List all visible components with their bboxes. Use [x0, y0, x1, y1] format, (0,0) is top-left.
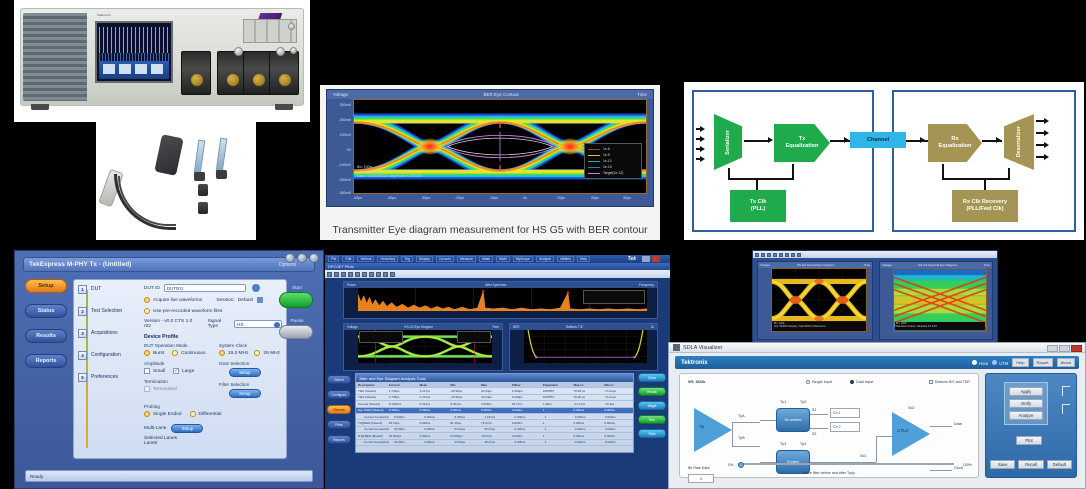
block-deserializer-label: Deserializer: [1016, 126, 1023, 157]
probe-accessory-2: [198, 202, 208, 214]
column-header: Min-cc: [602, 383, 633, 387]
selection-group: Gear Selection Setup Filter Selection Se…: [219, 361, 282, 398]
multilane-row: Multi-Lane Setup: [144, 424, 282, 433]
clock-output-label: Clock: [954, 466, 963, 470]
eye-y-tick: -200mV: [338, 178, 351, 182]
spectrum-header-left: Power: [347, 283, 356, 287]
plot-button[interactable]: Plot: [1016, 436, 1042, 445]
menu-mask[interactable]: Mask: [479, 256, 493, 262]
system-clock-19[interactable]: 19.2 MHz: [219, 350, 249, 356]
step-label: Preferences: [91, 374, 118, 380]
menu-measure[interactable]: Measure: [457, 256, 476, 262]
sdla-title-bar: SDLA Visualizer: [669, 343, 1085, 353]
port-tp1: Tp1: [780, 400, 786, 404]
cursor-icon[interactable]: [779, 253, 783, 257]
use-prerecorded-row[interactable]: Use pre-recorded waveform files: [144, 308, 282, 314]
maximize-button[interactable]: [297, 253, 307, 263]
app-icon: [673, 344, 680, 351]
probe-connector-2: [216, 170, 227, 179]
slider-caption: Move filter before and after Tpdy: [680, 471, 978, 475]
probing-differential[interactable]: Differential: [190, 411, 222, 417]
slider-min-label: 0%: [728, 463, 733, 467]
scope-eye-header-right: Time: [492, 325, 499, 329]
amplitude-label: Amplitude: [144, 361, 213, 366]
normal-eye-header-left: Voltage: [760, 263, 770, 267]
eye-x-tick: -50ps: [353, 196, 362, 200]
start-button[interactable]: [279, 292, 313, 308]
multilane-setup-button[interactable]: Setup: [171, 424, 203, 433]
oscilloscope-photo: Tektronix: [14, 0, 310, 122]
probe-amplifier-head: [154, 134, 183, 176]
layout-icon[interactable]: [390, 272, 395, 277]
termination-label: Termination: [144, 379, 213, 384]
scope-side-buttons: Select Configure Results Plots Reports: [327, 375, 353, 450]
bracket-icon-bottom: [1062, 404, 1070, 414]
tekexpress-title-bar: TekExpress M-PHY Tx - (Untitled) Options: [23, 257, 315, 272]
tekexpress-sidebar: Setup Status Results Reports: [25, 279, 71, 379]
right-button-clear[interactable]: Clear: [638, 373, 666, 382]
legend-label: 1e-15: [603, 165, 612, 169]
step-test-selection[interactable]: 2 Test Selection: [78, 306, 140, 316]
eye-x-tick: 20ps: [591, 196, 599, 200]
help-button[interactable]: Help: [1012, 358, 1028, 367]
scope-foot-left: [31, 104, 49, 110]
print-icon[interactable]: [761, 253, 765, 257]
dut-form: DUT ID DUT001 Acquire live waveforms Ses…: [144, 284, 282, 454]
data-output-label: Data: [954, 422, 962, 426]
eye-stats: Bin: 100fs Offset: 0.0002246 Gain 0.0001…: [357, 165, 422, 179]
eye-y-tick: 100mV: [340, 133, 351, 137]
tp-triangle-label: Tp: [699, 424, 704, 429]
bathtub-header-center: Bathtub-TIE: [566, 325, 583, 329]
probe-accessory-1: [198, 184, 208, 196]
deskew-checkbox[interactable]: Deskew B/C and TDR: [929, 380, 970, 384]
eye-legend: 1e-6 1e-9 1e-12 1e-15 Target(1e-12): [584, 143, 642, 179]
eye-x-tick: -40ps: [387, 196, 396, 200]
eye-diagram-plot: Voltage BER Eye Contour Time 300mV 200mV…: [326, 89, 654, 207]
dut-mode-continuous[interactable]: Continuous: [172, 350, 205, 356]
selected-lanes-value: Lane0: [144, 441, 282, 446]
spectral-eye-stats: Bin: 100fs Saturated Contour, Saturated …: [895, 322, 985, 330]
legend-label: 1e-9: [603, 153, 610, 157]
sdla-window-controls: [1046, 345, 1082, 352]
eye-x-axis: -50ps -40ps -30ps -20ps -10ps 0s 10ps 20…: [353, 194, 647, 206]
scope-channel-4: [269, 51, 299, 95]
eye-y-tick: -100mV: [338, 163, 351, 167]
filter-selection-label: Filter Selection: [219, 382, 282, 387]
analysis-results-table: Jitter and Eye Diagram Analysis Tools De…: [355, 373, 634, 453]
acquire-live-label: Acquire live waveforms: [153, 298, 202, 303]
pan-icon[interactable]: [362, 272, 367, 277]
zoom-out-icon[interactable]: [773, 253, 777, 257]
filter-slider-handle[interactable]: [738, 462, 744, 468]
eye-y-tick: 0V: [347, 148, 351, 152]
menu-trig[interactable]: Trig: [401, 256, 413, 262]
sdla-title: SDLA Visualizer: [683, 345, 722, 351]
step-label: Acquisitions: [91, 330, 118, 336]
spectral-eye-canvas: Bin: 100fs Saturated Contour, Saturated …: [893, 268, 987, 332]
filter-setup-button[interactable]: Setup: [229, 389, 261, 398]
analysis-table-grid: Description Current Mean Min Max StDev P…: [356, 382, 633, 446]
tp-input-triangle: Tp: [694, 408, 732, 452]
port-sd1: Sd1: [860, 454, 866, 458]
dut-mode-label: DUT Operation Mode: [144, 343, 213, 348]
sdla-brand-bar: Tektronix Hour UTM Help Report About: [675, 356, 1079, 369]
normal-eye-canvas: Bin: 100fs Acq: 500000 Samples, Total 80…: [771, 268, 867, 332]
de-embed-block[interactable]: De-embed: [776, 408, 810, 432]
eye-header-left: Voltage: [333, 92, 348, 97]
eye-measure-box-right: [457, 331, 491, 343]
table-row[interactable]: Current Acquisition 33.99ps 0.000ns 33.9…: [356, 440, 633, 446]
port-s1: S1: [812, 408, 816, 412]
session-value: Default: [238, 298, 253, 303]
eye-x-tick: -10ps: [489, 196, 498, 200]
amplitude-small[interactable]: Small: [144, 368, 165, 374]
step-number: 5: [78, 373, 87, 382]
port-tp3: Tp3: [780, 442, 786, 446]
verify-button[interactable]: Verify: [1009, 399, 1043, 408]
right-button-run[interactable]: Run: [638, 415, 666, 424]
run-controls: Start Pause: [279, 285, 315, 339]
pause-button[interactable]: [279, 325, 313, 339]
scope-minimize-button[interactable]: [642, 256, 650, 262]
report-button[interactable]: Report: [1033, 358, 1053, 367]
eye-x-tick: 10ps: [557, 196, 565, 200]
default-button[interactable]: Default: [1047, 460, 1072, 469]
pause-caption: Pause: [279, 318, 315, 323]
port-tp4: Tp4: [800, 442, 806, 446]
bottom-button-row: Save Recall Default: [990, 460, 1072, 469]
eye-y-tick: -300mV: [338, 191, 351, 195]
eye-x-tick: -30ps: [421, 196, 430, 200]
status-bar: Ready: [25, 470, 313, 482]
bit-rate-field[interactable]: 4: [688, 474, 714, 483]
menu-file[interactable]: File: [328, 256, 339, 262]
jitter-spectrum-plot: Power Jitter Spectrum Frequency: [343, 281, 658, 319]
amplitude-group: Amplitude Small ✓Large Termination Termi…: [144, 361, 213, 398]
ctle-triangle: CTLE: [892, 412, 930, 456]
spectrum-header-right: Frequency: [639, 283, 654, 287]
step-label: Configuration: [91, 352, 121, 358]
sidebar-item-setup[interactable]: Setup: [25, 279, 67, 293]
zoom-in-icon[interactable]: [767, 253, 771, 257]
use-prerecorded-label: Use pre-recorded waveform files: [153, 309, 222, 314]
step-number: 3: [78, 329, 87, 338]
eye-y-tick: 300mV: [340, 103, 351, 107]
maximize-button[interactable]: [1059, 345, 1070, 352]
eye-y-axis: 300mV 200mV 100mV 0V -100mV -200mV -300m…: [327, 99, 353, 194]
bathtub-canvas: [524, 330, 647, 363]
probing-single-ended[interactable]: Single Ended: [144, 411, 182, 417]
menu-myscope[interactable]: MyScope: [513, 256, 533, 262]
dpojet-scope-window[interactable]: File Edit Vertical Horiz/Acq Trig Displa…: [325, 255, 670, 489]
scope-eye-canvas: [358, 330, 492, 363]
gear-setup-button[interactable]: Setup: [229, 368, 261, 377]
sdla-visualizer-window[interactable]: SDLA Visualizer Tektronix Hour UTM Help …: [668, 342, 1086, 489]
scope-display: [95, 21, 173, 83]
column-header: Population: [541, 383, 572, 387]
dut-mode-group: DUT Operation Mode Burst Continuous: [144, 343, 213, 356]
right-button-single[interactable]: Single: [638, 401, 666, 410]
scope-right-buttons: Clear Recalc Single Run Plots: [638, 373, 668, 443]
system-clock-label: System Clock: [219, 343, 282, 348]
session-label: Session:: [216, 298, 234, 303]
probe-connector-1: [194, 172, 205, 181]
channel-1-field[interactable]: Ch 1: [830, 408, 860, 418]
tekexpress-title: TekExpress M-PHY Tx - (Untitled): [29, 261, 131, 268]
use-prerecorded-radio[interactable]: [144, 308, 150, 314]
probing-label: Probing: [144, 404, 282, 409]
side-button-results[interactable]: Results: [327, 405, 351, 414]
eye-x-tick: -20ps: [455, 196, 464, 200]
layout-icon[interactable]: [797, 253, 801, 257]
block-channel: Channel: [850, 132, 906, 148]
dut-mode-burst[interactable]: Burst: [144, 350, 164, 356]
folder-icon[interactable]: [257, 297, 263, 303]
spectrum-header-center: Jitter Spectrum: [485, 283, 506, 287]
scope-vent-grille: [23, 13, 87, 101]
step-number: 1: [78, 285, 87, 294]
zoom-out-icon[interactable]: [348, 272, 353, 277]
sdla-signal-path-canvas: SR: 1920b Single Input Dual Input Deskew…: [679, 373, 979, 478]
analysis-table-title-text: Jitter and Eye Diagram Analysis Tools: [359, 376, 426, 381]
minimize-button[interactable]: [1047, 345, 1058, 352]
bathtub-plot: BER Bathtub-TIE UI: [509, 323, 658, 371]
side-button-select[interactable]: Select: [327, 375, 351, 384]
minimize-button[interactable]: [285, 253, 295, 263]
device-profile-heading: Device Profile: [144, 334, 282, 340]
scope-toolbar: [325, 270, 670, 278]
step-acquisitions[interactable]: 3 Acquisitions: [78, 328, 140, 338]
menu-utilities[interactable]: Utilities: [557, 256, 574, 262]
dual-eye-window[interactable]: Voltage HS-G3 Normal Eye Diagram Time: [752, 250, 998, 347]
menu-analyze[interactable]: Analyze: [536, 256, 554, 262]
acquire-live-radio[interactable]: [144, 297, 150, 303]
step-label: Test Selection: [91, 308, 122, 314]
sdla-brand-label: Tektronix: [681, 360, 708, 366]
sidebar-item-status[interactable]: Status: [25, 304, 67, 318]
eye-diagram-figure: Voltage BER Eye Contour Time 300mV 200mV…: [320, 85, 660, 240]
refresh-icon[interactable]: [252, 284, 260, 292]
save-icon[interactable]: [327, 272, 332, 277]
column-header: Max-cc: [571, 383, 602, 387]
recall-button[interactable]: Recall: [1018, 460, 1043, 469]
termination-checkbox[interactable]: Terminated: [144, 386, 213, 392]
print-icon[interactable]: [334, 272, 339, 277]
signal-type-value: HS: [237, 322, 243, 327]
version-row: Version - v0.0 CTS 1.0 r02 Signal Type H…: [144, 319, 282, 329]
port-sd2: Sd2: [908, 406, 914, 410]
scope-brand-label: Tektronix: [97, 13, 111, 17]
column-header: Description: [356, 383, 387, 387]
block-tx-equalization-label: Tx Equalization: [786, 136, 819, 150]
system-clock-26[interactable]: 26 MHz: [254, 350, 280, 356]
brand-radio-hour[interactable]: Hour: [972, 360, 988, 366]
measure-icon[interactable]: [376, 272, 381, 277]
block-channel-label: Channel: [867, 137, 889, 144]
bit-rate-field-label: Bit Rate Data: [688, 466, 709, 470]
scope-knob-c: [290, 47, 297, 54]
amplitude-large[interactable]: ✓Large: [173, 368, 194, 374]
bathtub-svg: [524, 330, 647, 363]
bracket-icon-top: [1062, 386, 1070, 396]
port-s2: S2: [812, 432, 816, 436]
tekexpress-window[interactable]: TekExpress M-PHY Tx - (Untitled) Options…: [14, 250, 324, 489]
zoom-in-icon[interactable]: [341, 272, 346, 277]
close-button[interactable]: [309, 253, 319, 263]
signal-type-select[interactable]: HS: [234, 320, 282, 328]
step-dut[interactable]: 1 DUT: [78, 284, 140, 294]
legend-entry: Target(1e-12): [588, 170, 638, 176]
right-button-plots[interactable]: Plots: [638, 429, 666, 438]
spectral-eye-header-center: HS-G3 Spectral Eye Diagram: [918, 263, 957, 267]
right-button-recalc[interactable]: Recalc: [638, 387, 666, 396]
normal-eye-stats: Bin: 100fs Acq: 500000 Samples, Total 80…: [773, 322, 865, 330]
analyze-button[interactable]: Analyze: [1009, 411, 1043, 420]
sdla-brand-controls: Hour UTM Help Report About: [972, 358, 1075, 367]
spectrum-annotation-box: [583, 290, 645, 304]
probe-cable-inner: [118, 176, 176, 226]
tek-logo: Tek: [628, 256, 636, 262]
analysis-table-title: Jitter and Eye Diagram Analysis Tools: [356, 374, 633, 382]
save-icon[interactable]: [755, 253, 759, 257]
brand-radio-utm[interactable]: UTM: [992, 360, 1008, 366]
eye-header-center: BER Eye Contour: [483, 92, 519, 97]
de-embed-label: De-embed: [785, 418, 802, 422]
step-number: 4: [78, 351, 87, 360]
dut-id-row: DUT ID DUT001: [144, 284, 282, 292]
scope-knob-a: [234, 47, 243, 56]
port-tpa: TpA: [738, 414, 745, 418]
legend-label: 1e-12: [603, 159, 612, 163]
acquire-live-row[interactable]: Acquire live waveforms Session: Default: [144, 297, 282, 303]
menu-help[interactable]: Help: [577, 256, 590, 262]
scope-eye-header-left: Voltage: [347, 325, 358, 329]
eye-y-tick: 200mV: [340, 118, 351, 122]
menu-math[interactable]: Math: [496, 256, 510, 262]
block-tx-clk-label: Tx Clk (PLL): [750, 199, 767, 213]
scope-screen-menu: [99, 61, 169, 79]
legend-label: Target(1e-12): [603, 171, 623, 175]
gear-selection-label: Gear Selection: [219, 361, 282, 366]
close-button[interactable]: [1071, 345, 1082, 352]
side-button-configure[interactable]: Configure: [327, 390, 351, 399]
dual-eye-toolbar: [753, 251, 997, 258]
setup-step-list: 1 DUT 2 Test Selection 3 Acquisitions 4 …: [78, 284, 140, 454]
menu-edit[interactable]: Edit: [342, 256, 354, 262]
step-label: DUT: [91, 286, 101, 292]
block-rx-equalization-label: Rx Equalization: [939, 136, 972, 150]
side-button-reports[interactable]: Reports: [327, 435, 351, 444]
probe-kit-photo: [96, 122, 256, 240]
dpojet-plots-title: DPOJET Plots: [325, 263, 670, 270]
sdla-action-panel: Apply Verify Analyze Plot Save Recall De…: [985, 373, 1077, 478]
scope-eye-header-center: HS-G3 Eye Diagram: [404, 325, 433, 329]
grid-icon[interactable]: [369, 272, 374, 277]
eye-x-tick: 30ps: [623, 196, 631, 200]
input-mode-single[interactable]: Single Input: [806, 380, 832, 384]
menu-cursors[interactable]: Cursors: [436, 256, 454, 262]
filter-slider-track[interactable]: [738, 463, 954, 465]
port-tpb: TpB: [738, 436, 745, 440]
bathtub-header-right: UI: [651, 325, 654, 329]
multilane-label: Multi-Lane: [144, 426, 166, 431]
scope-chassis: Tektronix: [20, 8, 304, 106]
scope-foot-right: [275, 104, 293, 110]
eye-measure-box-left: [359, 331, 403, 343]
primary-action-group: Apply Verify Analyze: [1004, 382, 1048, 425]
scope-eye-plot: Voltage HS-G3 Eye Diagram Time: [343, 323, 503, 371]
spectral-eye-plot: Voltage HS-G3 Spectral Eye Diagram Time: [879, 261, 993, 340]
dut-id-input[interactable]: DUT001: [164, 284, 246, 292]
menu-display[interactable]: Display: [416, 256, 433, 262]
signal-type-label: Signal Type: [208, 319, 232, 329]
bathtub-header-left: BER: [513, 325, 520, 329]
dut-id-label: DUT ID: [144, 286, 160, 291]
cursor-icon[interactable]: [355, 272, 360, 277]
menu-vertical[interactable]: Vertical: [357, 256, 374, 262]
sidebar-item-reports[interactable]: Reports: [25, 354, 67, 368]
menu-horizacq[interactable]: Horiz/Acq: [377, 256, 398, 262]
tekexpress-setup-panel: 1 DUT 2 Test Selection 3 Acquisitions 4 …: [73, 279, 287, 459]
apply-button[interactable]: Apply: [1009, 387, 1043, 396]
column-header: Min: [448, 383, 479, 387]
palette-icon[interactable]: [383, 272, 388, 277]
serdes-block-diagram: Serializer Tx Equalization Tx Clk (PLL) …: [684, 82, 1084, 240]
normal-eye-header-center: HS-G3 Normal Eye Diagram: [797, 263, 835, 267]
status-text: Ready: [30, 474, 43, 479]
ctle-triangle-label: CTLE: [897, 428, 909, 433]
version-text: Version - v0.0 CTS 1.0 r02: [144, 319, 198, 329]
sidebar-item-results[interactable]: Results: [25, 329, 67, 343]
start-caption: Start: [279, 285, 315, 290]
grid-icon[interactable]: [785, 253, 789, 257]
block-rx-clk-recovery: Rx Clk Recovery (PLL/Fwd Clk): [952, 190, 1018, 222]
channel-2-field[interactable]: Ch 2: [830, 422, 860, 432]
block-serializer-label: Serializer: [725, 130, 732, 155]
input-mode-dual[interactable]: Dual Input: [850, 380, 873, 384]
step-number: 2: [78, 307, 87, 316]
block-tx-clk: Tx Clk (PLL): [730, 190, 786, 222]
about-button[interactable]: About: [1057, 358, 1075, 367]
step-preferences[interactable]: 5 Preferences: [78, 372, 140, 382]
palette-icon[interactable]: [791, 253, 795, 257]
spectral-eye-header-right: Time: [983, 263, 990, 267]
dpojet-plots-title-text: DPOJET Plots: [328, 264, 354, 269]
eye-diagram-canvas: Bin: 100fs Offset: 0.0002246 Gain 0.0001…: [353, 99, 647, 194]
normal-eye-plot: Voltage HS-G3 Normal Eye Diagram Time: [757, 261, 873, 340]
system-clock-group: System Clock 19.2 MHz 26 MHz: [219, 343, 282, 356]
port-tp2: Tp2: [800, 400, 806, 404]
scope-knob-b: [276, 47, 285, 56]
side-button-plots[interactable]: Plots: [327, 420, 351, 429]
spectrum-canvas: [358, 288, 647, 311]
eye-diagram-caption: Transmitter Eye diagram measurement for …: [320, 224, 660, 236]
scope-waveform-trace: [99, 27, 169, 53]
column-header: Max: [479, 383, 510, 387]
bit-rate-display: SR: 1920b: [688, 380, 705, 384]
step-configuration[interactable]: 4 Configuration: [78, 350, 140, 360]
legend-label: 1e-6: [603, 147, 610, 151]
block-rx-clk-recovery-label: Rx Clk Recovery (PLL/Fwd Clk): [963, 199, 1007, 213]
column-header: Mean: [418, 383, 449, 387]
column-header: StDev: [510, 383, 541, 387]
probe-lead-1: [194, 140, 206, 175]
scope-close-button[interactable]: [652, 256, 660, 262]
save-button[interactable]: Save: [990, 460, 1015, 469]
scope-knob-d: [288, 23, 295, 30]
eye-stat-line: Gain 0.0001000015, TargetGain 0.0000015: [357, 174, 422, 179]
